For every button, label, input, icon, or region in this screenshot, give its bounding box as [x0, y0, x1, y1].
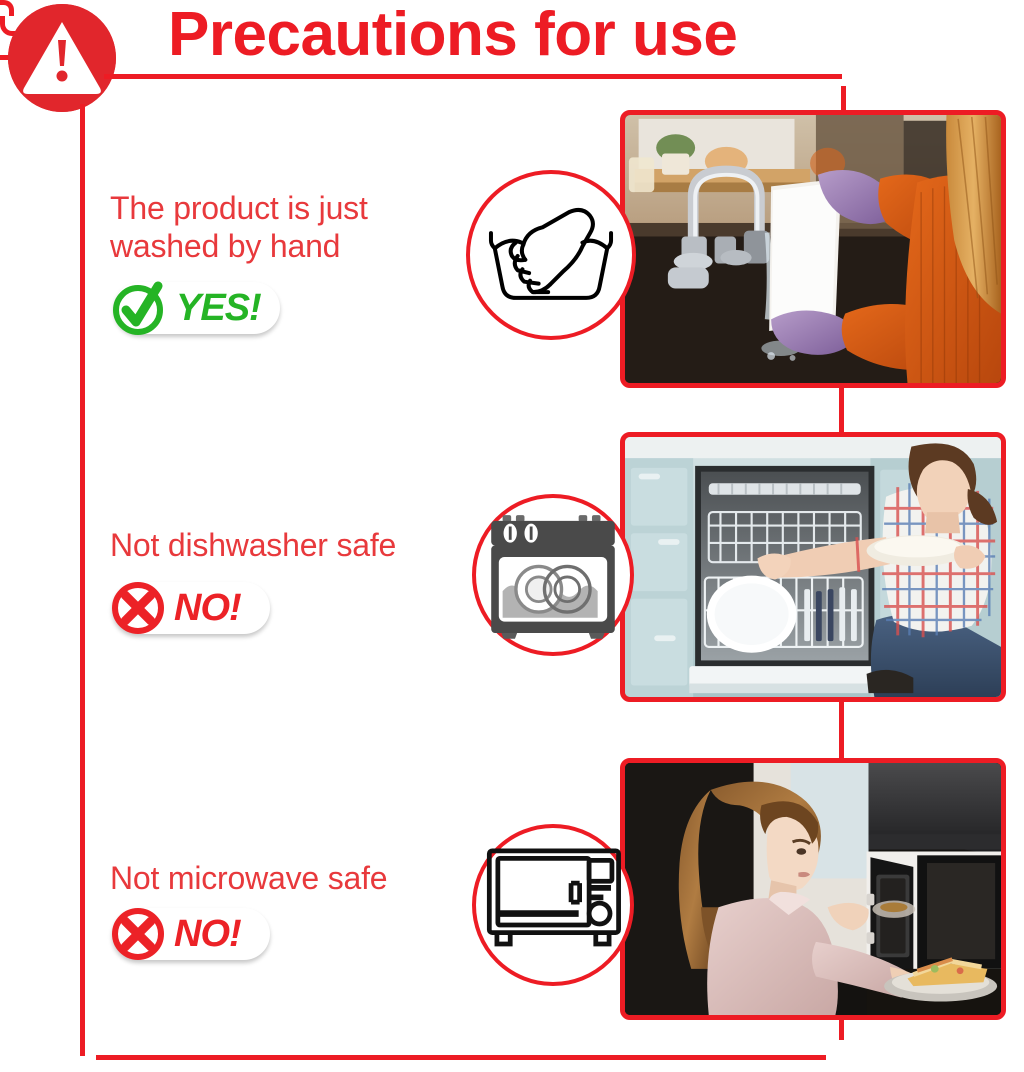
x-circle-icon: [106, 900, 174, 968]
hand-wash-icon: [466, 170, 636, 340]
badge-yes-label: YES!: [176, 284, 261, 332]
badge-no-microwave: NO!: [112, 908, 270, 960]
badge-no-label: NO!: [174, 584, 241, 632]
badge-yes: YES!: [114, 282, 280, 334]
microwave-icon: [472, 824, 634, 986]
caption-hand-wash: The product is just washed by hand: [110, 190, 440, 266]
badge-no-dishwasher: NO!: [112, 582, 270, 634]
connector-bottom-horizontal: [96, 1055, 826, 1060]
photo-microwave-food: [620, 758, 1006, 1020]
check-circle-icon: [108, 274, 176, 342]
connector-top-horizontal: [104, 74, 842, 79]
x-circle-icon: [106, 574, 174, 642]
precautions-infographic: Precautions for use The product is just …: [0, 0, 1024, 1072]
warning-triangle-icon: [8, 4, 116, 112]
dishwasher-icon: [472, 494, 634, 656]
badge-no-label: NO!: [174, 910, 241, 958]
page-title: Precautions for use: [168, 4, 737, 66]
connector-left-spine: [80, 104, 85, 1056]
caption-microwave: Not microwave safe: [110, 860, 460, 898]
connector-photo2-photo3: [839, 700, 844, 760]
connector-photo1-photo2: [839, 386, 844, 434]
photo-loading-dishwasher: [620, 432, 1006, 702]
caption-dishwasher: Not dishwasher safe: [110, 527, 460, 565]
photo-hand-washing-sink: [620, 110, 1006, 388]
